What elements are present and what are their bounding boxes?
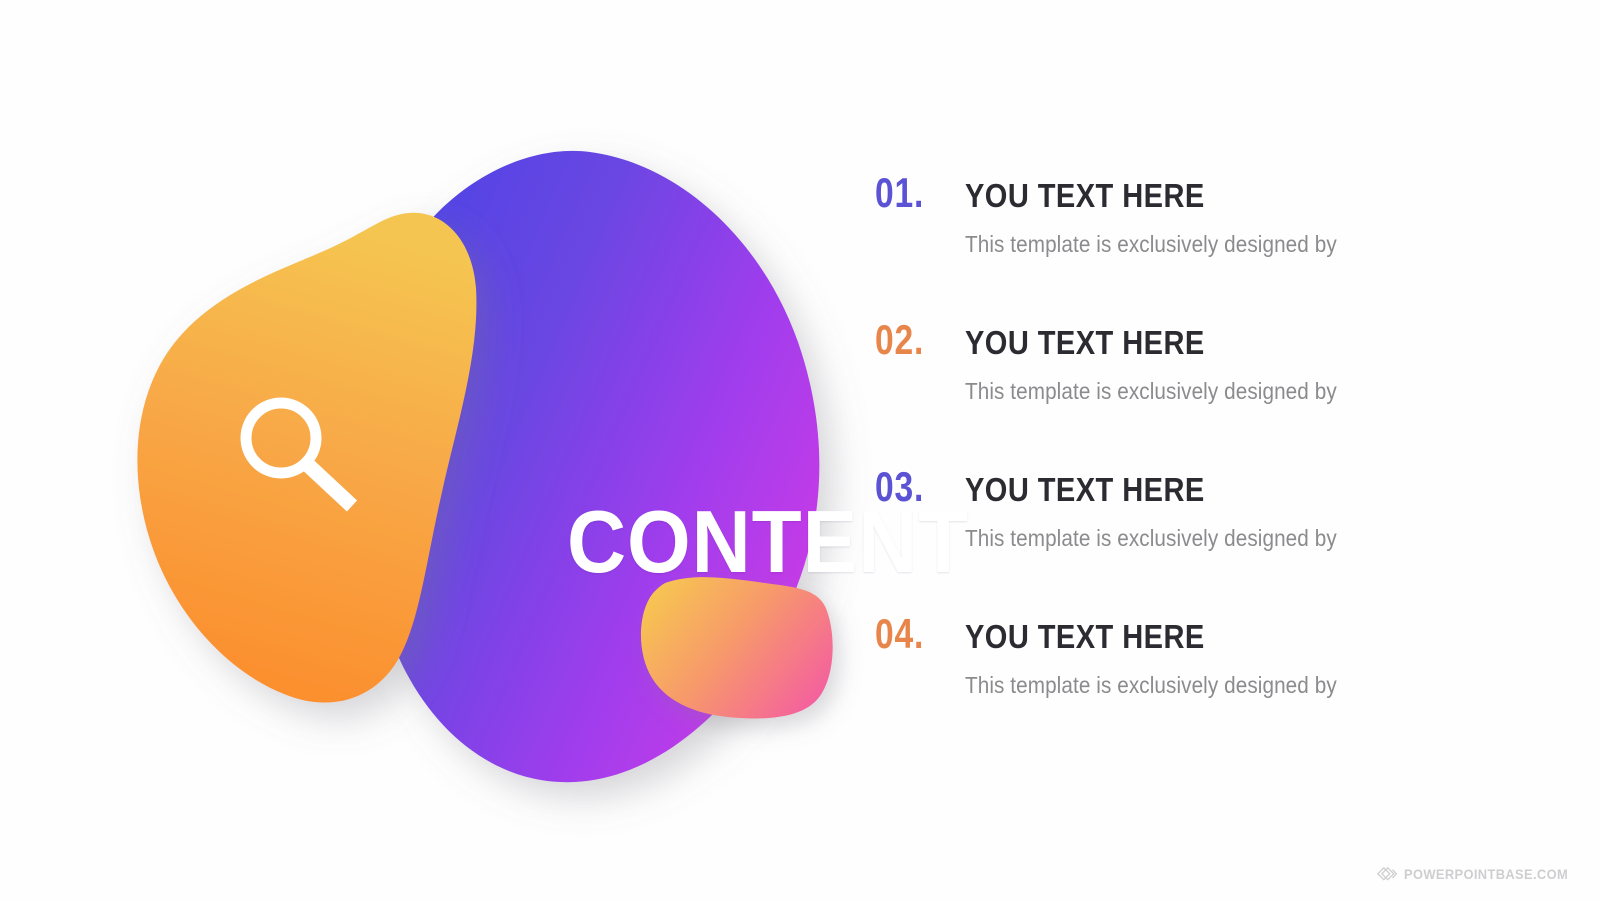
list-item-description: This template is exclusively designed by xyxy=(965,231,1460,257)
list-item[interactable]: 03. YOU TEXT HERE This template is exclu… xyxy=(875,466,1515,613)
numbered-list: 01. YOU TEXT HERE This template is exclu… xyxy=(875,172,1515,760)
list-item-number: 03. xyxy=(875,466,947,508)
list-item-header: 04. YOU TEXT HERE xyxy=(875,613,1515,655)
watermark-text: POWERPOINTBASE.COM xyxy=(1404,866,1568,882)
list-item-number: 02. xyxy=(875,319,947,361)
list-item-title: YOU TEXT HERE xyxy=(965,473,1205,506)
watermark[interactable]: POWERPOINTBASE.COM xyxy=(1377,866,1582,882)
list-item-header: 02. YOU TEXT HERE xyxy=(875,319,1515,361)
list-item-description: This template is exclusively designed by xyxy=(965,378,1460,404)
list-item-description: This template is exclusively designed by xyxy=(965,672,1460,698)
slide-canvas: CONTENT 01. YOU TEXT HERE This template … xyxy=(0,0,1600,900)
list-item-title: YOU TEXT HERE xyxy=(965,179,1205,212)
diamond-logo-icon xyxy=(1377,867,1399,881)
list-item-title: YOU TEXT HERE xyxy=(965,620,1205,653)
list-item[interactable]: 04. YOU TEXT HERE This template is exclu… xyxy=(875,613,1515,760)
list-item[interactable]: 02. YOU TEXT HERE This template is exclu… xyxy=(875,319,1515,466)
blob-svg xyxy=(120,110,860,790)
list-item-number: 04. xyxy=(875,613,947,655)
list-item-header: 03. YOU TEXT HERE xyxy=(875,466,1515,508)
list-item-number: 01. xyxy=(875,172,947,214)
blob-artwork: CONTENT xyxy=(120,110,860,790)
list-item[interactable]: 01. YOU TEXT HERE This template is exclu… xyxy=(875,172,1515,319)
list-item-description: This template is exclusively designed by xyxy=(965,525,1460,551)
list-item-header: 01. YOU TEXT HERE xyxy=(875,172,1515,214)
list-item-title: YOU TEXT HERE xyxy=(965,326,1205,359)
